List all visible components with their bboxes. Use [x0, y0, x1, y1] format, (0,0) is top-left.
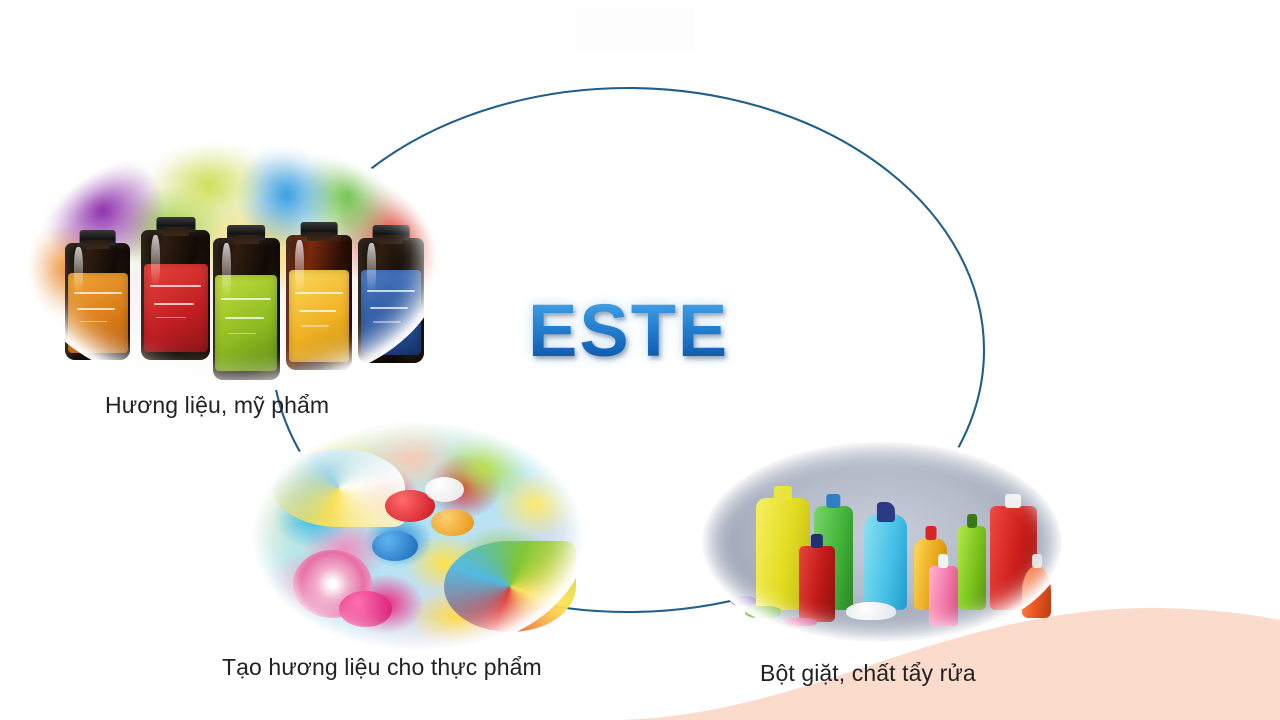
flavor-extract-bottles-photo [28, 140, 438, 390]
caption-food: Tạo hương liệu cho thực phẩm [222, 654, 542, 681]
page-title: ESTE [528, 294, 729, 368]
assorted-candy-photo [253, 422, 583, 650]
faint-top-watermark [575, 8, 695, 50]
slide-canvas: ESTE Hương liệu, mỹ phẩm Tạo hương liệu … [0, 0, 1280, 720]
caption-flavors: Hương liệu, mỹ phẩm [105, 392, 329, 419]
cleaning-products-photo [702, 442, 1062, 642]
caption-cleaning: Bột giặt, chất tẩy rửa [760, 660, 976, 687]
